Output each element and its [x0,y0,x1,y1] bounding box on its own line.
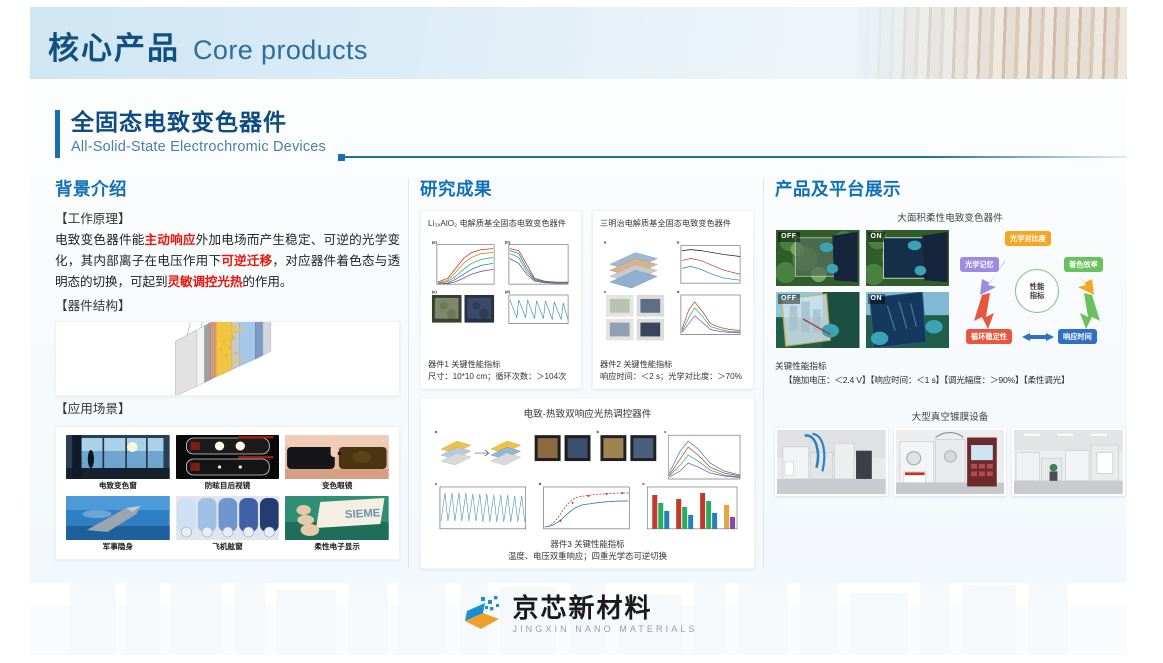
scenario-item: SIEME 柔性电子显示 [285,496,389,552]
column-divider-2 [763,178,764,568]
column-results: 研究成果 Li₃ₓAlO₂ 电解质基全固态电致变色器件 (a) [420,176,755,569]
photo-tag-off: OFF [778,294,800,304]
result-card-2-figure: a b [600,234,746,354]
header-decor-image [857,7,1127,79]
performance-metrics-diagram: 光学对比度 光学记忆 着色效率 循环稳定性 响应时间 性能 指标 [958,229,1118,351]
scenario-caption: 军事隐身 [66,542,170,552]
section-title-en: All-Solid-State Electrochromic Devices [71,137,326,157]
svg-text:(d): (d) [505,289,511,294]
diagram-center-line1: 性能 [1030,282,1045,291]
equipment-photo-1 [775,428,888,496]
section-rule [345,156,1153,158]
result-card-2-metrics-head: 器件2 关键性能指标 [600,359,746,371]
scenario-image-flexible-display: SIEME [285,496,389,540]
diagram-node-cycling-stability: 循环稳定性 [966,329,1012,344]
result-card-1-metrics-body: 尺寸：10*10 cm；循环次数：＞104次 [428,371,574,383]
kpi-block: 关键性能指标 【施加电压：＜2.4 V】【响应时间：＜1 s】【调光幅度：＞90… [775,360,1125,387]
principle-paragraph: 电致变色器件能主动响应外加电场而产生稳定、可逆的光学变化，其内部离子在电压作用下… [55,230,400,293]
result-card-3: 电致-热致双响应光热调控器件 a [420,397,755,569]
scenario-image-anti-glare-mirror [176,435,280,479]
diagram-node-label: 响应时间 [1063,332,1092,341]
column-background: 背景介绍 【工作原理】 电致变色器件能主动响应外加电场而产生稳定、可逆的光学变化… [55,176,400,560]
kpi-heading: 关键性能指标 [775,360,1125,373]
diagram-node-label: 着色效率 [1069,260,1098,269]
result-card-2-title: 三明治电解质基全固态电致变色器件 [600,218,746,229]
logo-name-en: JINGXIN NANO MATERIALS [512,623,697,636]
scenario-caption: 防眩目后视镜 [176,481,280,491]
diagram-node-contrast: 光学对比度 [1005,231,1051,246]
logo-mark-icon [459,595,503,635]
results-heading: 研究成果 [420,176,755,201]
device-structure-figure: Glass ITO WO3 Li3xAlO2 NiO ITO Glass [55,321,400,396]
diagram-node-label: 光学记忆 [965,260,994,269]
flexible-device-photo-grid: OFF ON [775,229,950,349]
result-card-1-metrics: 器件1 关键性能指标 尺寸：10*10 cm；循环次数：＞104次 [428,359,574,382]
svg-text:SIEME: SIEME [345,507,382,521]
result-card-1-title: Li₃ₓAlO₂ 电解质基全固态电致变色器件 [428,218,574,229]
scenario-item: 变色眼镜 [285,435,389,491]
section-rule-dot [338,154,345,161]
result-card-3-metrics: 器件3 关键性能指标 温度、电压双重响应；四重光学态可逆切换 [429,539,746,562]
svg-text:(c): (c) [432,289,438,294]
section-title-cn: 全固态电致变色器件 [71,107,326,137]
scenario-item: 军事隐身 [66,496,170,552]
equipment-title: 大型真空镀膜设备 [775,409,1125,423]
scenario-item: 防眩目后视镜 [176,435,280,491]
diagram-node-response-time: 响应时间 [1058,329,1097,344]
result-card-3-figure: a [429,425,746,533]
result-card-1: Li₃ₓAlO₂ 电解质基全固态电致变色器件 (a) [420,210,582,389]
para-highlight-1: 主动响应 [145,233,196,247]
scenario-item: 电致变色窗 [66,435,170,491]
diagram-node-label: 光学对比度 [1010,234,1046,243]
header-title-cn: 核心产品 [48,23,180,68]
diagram-center-line2: 指标 [1030,291,1045,300]
kpi-values: 【施加电压：＜2.4 V】【响应时间：＜1 s】【调光幅度：＞90%】【柔性调光… [775,374,1125,387]
result-card-2: 三明治电解质基全固态电致变色器件 a [592,210,754,389]
scenarios-label: 【应用场景】 [55,400,400,419]
logo-name-cn: 京芯新材料 [512,594,697,622]
scenario-image-smart-window [66,435,170,479]
result-card-2-metrics: 器件2 关键性能指标 响应时间：＜2 s；光学对比度：＞70% [600,359,746,382]
result-card-1-metrics-head: 器件1 关键性能指标 [428,359,574,371]
logo-text-group: 京芯新材料 JINGXIN NANO MATERIALS [512,594,697,636]
column-divider-1 [408,178,409,568]
flexible-device-title: 大面积柔性电致变色器件 [775,210,1125,224]
structure-label: 【器件结构】 [55,297,400,316]
device-photo-off-2: OFF [775,291,861,349]
device-photo-on-2: ON [865,291,951,349]
result-card-3-title: 电致-热致双响应光热调控器件 [429,406,746,420]
para-seg-4: 的作用。 [242,275,292,289]
section-accent-bar [55,110,60,158]
device-photo-off-1: OFF [775,229,861,287]
scenario-caption: 柔性电子显示 [285,542,389,552]
result-card-2-metrics-body: 响应时间：＜2 s；光学对比度：＞70% [600,371,746,383]
application-scenarios-panel: 电致变色窗 [55,426,400,560]
device-structure-svg: Glass ITO WO3 Li3xAlO2 NiO ITO Glass [56,322,399,395]
result-card-3-metrics-head: 器件3 关键性能指标 [429,539,746,551]
equipment-photo-grid [775,428,1125,496]
slide-header: 核心产品 Core products [30,7,1127,79]
principle-label: 【工作原理】 [55,210,400,229]
section-title: 全固态电致变色器件 All-Solid-State Electrochromic… [55,107,326,157]
slide-root: 核心产品 Core products 全固态电致变色器件 All-Solid-S… [0,0,1163,663]
diagram-node-optical-memory: 光学记忆 [960,257,999,272]
results-card-row: Li₃ₓAlO₂ 电解质基全固态电致变色器件 (a) [420,210,755,389]
svg-text:(a): (a) [432,240,438,245]
device-photo-on-1: ON [865,229,951,287]
scenario-image-aircraft-window [176,496,280,540]
diagram-node-coloration-efficiency: 着色效率 [1064,257,1103,272]
frame-bottom [0,655,1163,663]
company-logo: 京芯新材料 JINGXIN NANO MATERIALS [459,594,697,636]
figure-dual-response: a [429,425,746,533]
svg-text:(b): (b) [505,240,511,245]
scenario-item: 飞机舷窗 [176,496,280,552]
equipment-photo-2 [894,428,1007,496]
application-scenarios-grid: 电致变色窗 [66,435,389,552]
scenario-caption: 变色眼镜 [285,481,389,491]
background-heading: 背景介绍 [55,176,400,201]
frame-left [0,0,30,663]
scenario-caption: 电致变色窗 [66,481,170,491]
photo-tag-off: OFF [778,232,800,242]
products-heading: 产品及平台展示 [775,176,1125,201]
flexible-device-showcase: OFF ON [775,229,1125,351]
figure-panels-a-d-2: a b [600,234,746,354]
photo-tag-on: ON [868,294,886,304]
diagram-center-node: 性能 指标 [1015,269,1059,313]
para-highlight-3: 灵敏调控光热 [167,275,242,289]
result-card-1-figure: (a) (b) [428,234,574,354]
para-seg-1: 电致变色器件能 [55,233,145,247]
header-title-group: 核心产品 Core products [48,23,368,68]
scenario-image-smart-glasses [285,435,389,479]
slide-footer: 京芯新材料 JINGXIN NANO MATERIALS [30,575,1127,655]
diagram-node-label: 循环稳定性 [971,332,1007,341]
result-card-3-metrics-body: 温度、电压双重响应；四重光学态可逆切换 [429,551,746,563]
frame-top [0,0,1163,7]
header-title-en: Core products [193,35,368,66]
figure-panels-a-d: (a) (b) [428,234,574,354]
frame-right [1127,0,1163,663]
para-highlight-2: 可逆迁移 [221,254,272,268]
scenario-image-military-stealth [66,496,170,540]
equipment-photo-3 [1012,428,1125,496]
column-products: 产品及平台展示 大面积柔性电致变色器件 OFF [775,176,1125,496]
photo-tag-on: ON [868,232,886,242]
scenario-caption: 飞机舷窗 [176,542,280,552]
